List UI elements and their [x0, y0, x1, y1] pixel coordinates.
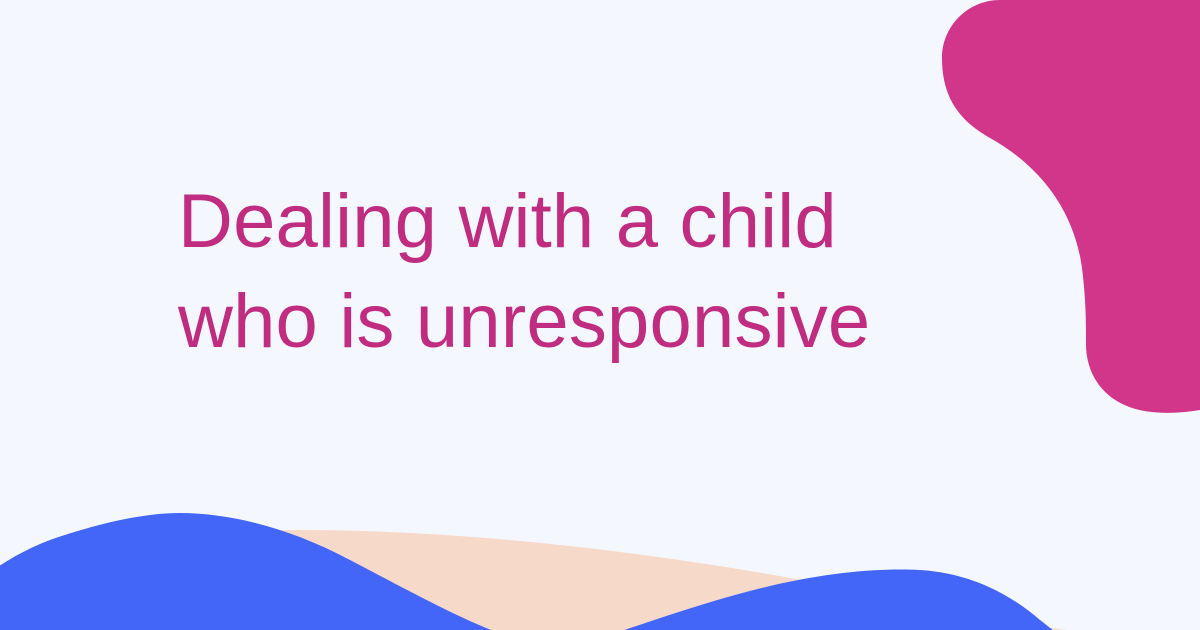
blue-blob-bottom-left-icon	[0, 513, 496, 630]
page-title: Dealing with a child who is unresponsive	[178, 172, 938, 372]
peach-blob-bottom-icon	[0, 530, 1200, 630]
pink-blob-top-right-icon	[942, 0, 1200, 413]
page-title-line-1: Dealing with a child	[178, 172, 938, 272]
page-title-line-2: who is unresponsive	[178, 272, 938, 372]
poster-canvas: Dealing with a child who is unresponsive	[0, 0, 1200, 630]
blue-blob-bottom-right-icon	[600, 570, 1078, 630]
